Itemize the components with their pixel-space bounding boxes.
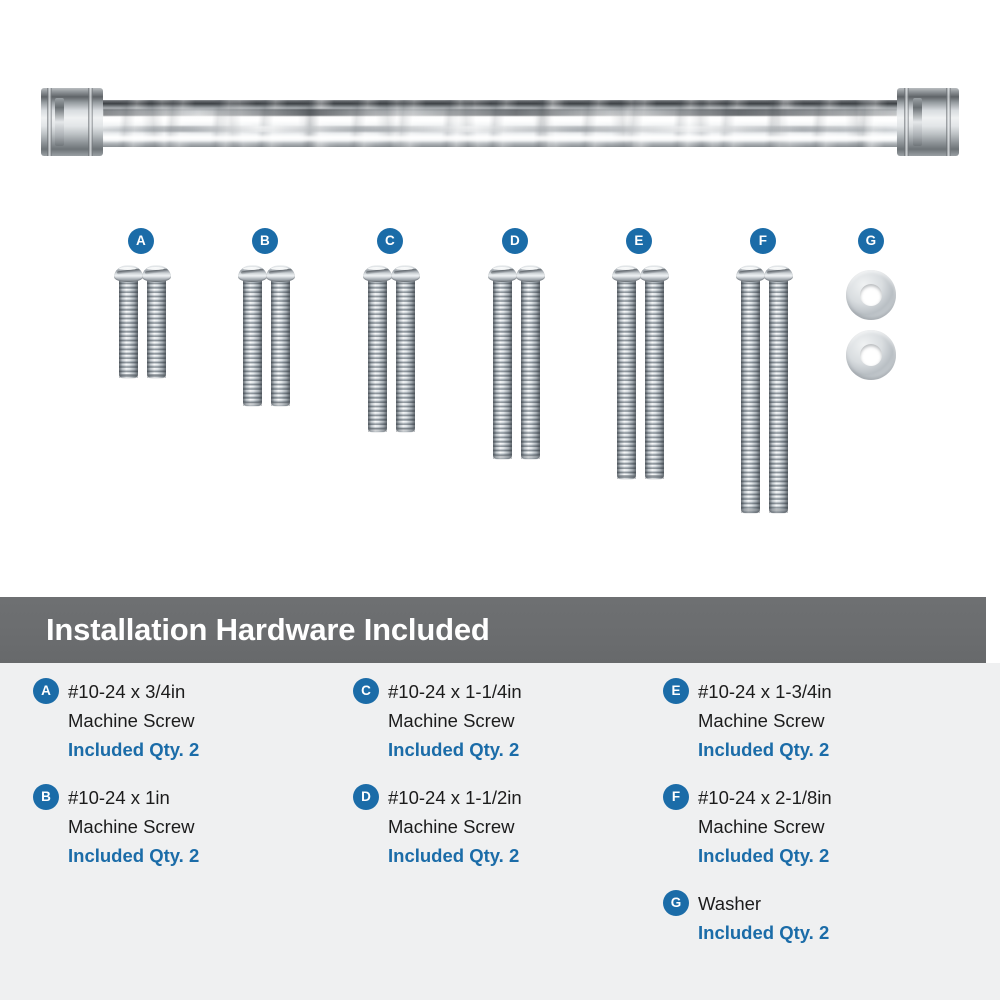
screw-head-gloss bbox=[493, 267, 510, 270]
screw-shank-edge-l bbox=[396, 280, 399, 432]
screw-shank-edge-l bbox=[243, 280, 246, 406]
legend-item-text: #10-24 x 3/4inMachine ScrewIncluded Qty.… bbox=[68, 677, 199, 764]
product-diagram-area: ABCDEFG bbox=[0, 0, 1000, 590]
diagram-marker-e: E bbox=[626, 228, 652, 254]
screw-shank-tip bbox=[741, 509, 760, 514]
legend-item-text: #10-24 x 1inMachine ScrewIncluded Qty. 2 bbox=[68, 783, 199, 870]
screw-shank-tip bbox=[493, 455, 512, 460]
screw-head-gloss bbox=[271, 267, 288, 270]
legend-item-spec: #10-24 x 1-1/4in bbox=[388, 677, 522, 706]
screw-head bbox=[238, 265, 267, 282]
screw-threaded-shank bbox=[769, 280, 788, 513]
legend-item-type: Machine Screw bbox=[388, 812, 522, 841]
legend-body: A#10-24 x 3/4inMachine ScrewIncluded Qty… bbox=[0, 663, 1000, 1000]
screw-shank-tip bbox=[243, 402, 262, 407]
legend-item-b: B#10-24 x 1inMachine ScrewIncluded Qty. … bbox=[33, 783, 199, 870]
legend-item-text: #10-24 x 1-1/4inMachine ScrewIncluded Qt… bbox=[388, 677, 522, 764]
screw-shank-edge-r bbox=[661, 280, 664, 479]
end-cap-ring bbox=[904, 88, 909, 156]
screw-shank-edge-r bbox=[163, 280, 166, 378]
screw-shank-edge-r bbox=[287, 280, 290, 406]
screw-threaded-shank bbox=[493, 280, 512, 459]
legend-item-spec: #10-24 x 2-1/8in bbox=[698, 783, 832, 812]
legend-badge-c: C bbox=[353, 678, 379, 704]
screw-shank-edge-r bbox=[757, 280, 760, 513]
screw-head bbox=[764, 265, 793, 282]
screw-shank-edge-r bbox=[633, 280, 636, 479]
screw-threaded-shank bbox=[368, 280, 387, 432]
legend-item-type: Machine Screw bbox=[698, 706, 832, 735]
screw-head-gloss bbox=[147, 267, 164, 270]
legend-badge-d: D bbox=[353, 784, 379, 810]
diagram-marker-g: G bbox=[858, 228, 884, 254]
legend-item-quantity: Included Qty. 2 bbox=[68, 735, 199, 764]
legend-item-text: #10-24 x 2-1/8inMachine ScrewIncluded Qt… bbox=[698, 783, 832, 870]
screw-threaded-shank bbox=[271, 280, 290, 406]
legend-badge-e: E bbox=[663, 678, 689, 704]
legend-item-type: Machine Screw bbox=[68, 812, 199, 841]
screw-head bbox=[640, 265, 669, 282]
legend-item-g: GWasherIncluded Qty. 2 bbox=[663, 889, 829, 947]
screw-head bbox=[612, 265, 641, 282]
towel-bar-end-cap-right bbox=[897, 88, 959, 156]
end-cap-ring bbox=[946, 88, 951, 156]
legend-item-spec: #10-24 x 3/4in bbox=[68, 677, 199, 706]
screw-shank-tip bbox=[617, 475, 636, 480]
screw-shank-edge-r bbox=[259, 280, 262, 406]
diagram-marker-d: D bbox=[502, 228, 528, 254]
legend-item-quantity: Included Qty. 2 bbox=[698, 735, 832, 764]
legend-badge-g: G bbox=[663, 890, 689, 916]
diagram-marker-f: F bbox=[750, 228, 776, 254]
towel-bar-tube bbox=[103, 100, 897, 147]
screw-shank-tip bbox=[645, 475, 664, 480]
diagram-marker-c: C bbox=[377, 228, 403, 254]
legend-item-text: #10-24 x 1-3/4inMachine ScrewIncluded Qt… bbox=[698, 677, 832, 764]
screw-shank-tip bbox=[147, 374, 166, 379]
screw-shank-edge-l bbox=[769, 280, 772, 513]
legend-item-d: D#10-24 x 1-1/2inMachine ScrewIncluded Q… bbox=[353, 783, 522, 870]
legend-item-quantity: Included Qty. 2 bbox=[698, 918, 829, 947]
legend-item-type: Machine Screw bbox=[388, 706, 522, 735]
diagram-marker-b: B bbox=[252, 228, 278, 254]
screw-shank-edge-l bbox=[521, 280, 524, 459]
towel-bar-highlight-streak bbox=[103, 136, 897, 141]
legend-item-c: C#10-24 x 1-1/4inMachine ScrewIncluded Q… bbox=[353, 677, 522, 764]
legend-item-e: E#10-24 x 1-3/4inMachine ScrewIncluded Q… bbox=[663, 677, 832, 764]
legend-item-type: Machine Screw bbox=[698, 812, 832, 841]
screw-shank-edge-r bbox=[509, 280, 512, 459]
screw-shank-edge-l bbox=[493, 280, 496, 459]
legend-item-text: WasherIncluded Qty. 2 bbox=[698, 889, 829, 947]
screw-shank-tip bbox=[396, 428, 415, 433]
screw-shank-tip bbox=[368, 428, 387, 433]
screw-head-gloss bbox=[243, 267, 260, 270]
towel-bar-end-cap-left bbox=[41, 88, 103, 156]
washer-hole bbox=[860, 344, 882, 366]
screw-head bbox=[516, 265, 545, 282]
legend-item-spec: #10-24 x 1-1/2in bbox=[388, 783, 522, 812]
screw-head-gloss bbox=[741, 267, 758, 270]
screw-shank-edge-r bbox=[785, 280, 788, 513]
screw-shank-edge-l bbox=[617, 280, 620, 479]
screw-threaded-shank bbox=[243, 280, 262, 406]
screw-shank-edge-l bbox=[147, 280, 150, 378]
screw-head-gloss bbox=[521, 267, 538, 270]
screw-threaded-shank bbox=[617, 280, 636, 479]
screw-head-gloss bbox=[368, 267, 385, 270]
legend-badge-f: F bbox=[663, 784, 689, 810]
towel-bar-dark-streak bbox=[103, 109, 897, 116]
screw-threaded-shank bbox=[741, 280, 760, 513]
end-cap-ring bbox=[47, 88, 52, 156]
legend-badge-b: B bbox=[33, 784, 59, 810]
legend-item-f: F#10-24 x 2-1/8inMachine ScrewIncluded Q… bbox=[663, 783, 832, 870]
end-cap-collar bbox=[55, 98, 64, 146]
legend-item-spec: #10-24 x 1in bbox=[68, 783, 199, 812]
screw-head-gloss bbox=[769, 267, 786, 270]
screw-shank-edge-r bbox=[135, 280, 138, 378]
end-cap-collar bbox=[913, 98, 922, 146]
screw-shank-edge-l bbox=[368, 280, 371, 432]
legend-item-quantity: Included Qty. 2 bbox=[388, 841, 522, 870]
screw-head-gloss bbox=[396, 267, 413, 270]
legend-item-a: A#10-24 x 3/4inMachine ScrewIncluded Qty… bbox=[33, 677, 199, 764]
legend-item-spec: Washer bbox=[698, 889, 829, 918]
screw-head bbox=[363, 265, 392, 282]
screw-threaded-shank bbox=[147, 280, 166, 378]
screw-shank-edge-r bbox=[412, 280, 415, 432]
screw-threaded-shank bbox=[119, 280, 138, 378]
legend-item-text: #10-24 x 1-1/2inMachine ScrewIncluded Qt… bbox=[388, 783, 522, 870]
legend-item-quantity: Included Qty. 2 bbox=[698, 841, 832, 870]
end-cap-ring bbox=[88, 88, 93, 156]
screw-head bbox=[736, 265, 765, 282]
legend-item-type: Machine Screw bbox=[68, 706, 199, 735]
screw-head-gloss bbox=[617, 267, 634, 270]
screw-shank-edge-r bbox=[384, 280, 387, 432]
screw-threaded-shank bbox=[645, 280, 664, 479]
screw-head bbox=[488, 265, 517, 282]
legend-header-bar: Installation Hardware Included bbox=[0, 597, 986, 663]
screw-shank-edge-l bbox=[645, 280, 648, 479]
screw-shank-tip bbox=[119, 374, 138, 379]
legend-item-quantity: Included Qty. 2 bbox=[68, 841, 199, 870]
screw-threaded-shank bbox=[521, 280, 540, 459]
washer-2 bbox=[846, 330, 896, 380]
screw-head bbox=[266, 265, 295, 282]
towel-bar-mid-streak bbox=[103, 126, 897, 132]
screw-head bbox=[391, 265, 420, 282]
screw-shank-edge-l bbox=[741, 280, 744, 513]
page-title: Installation Hardware Included bbox=[46, 612, 490, 648]
screw-shank-edge-r bbox=[537, 280, 540, 459]
washer-hole bbox=[860, 284, 882, 306]
screw-head bbox=[142, 265, 171, 282]
screw-shank-tip bbox=[769, 509, 788, 514]
screw-shank-edge-l bbox=[271, 280, 274, 406]
screw-head-gloss bbox=[645, 267, 662, 270]
washer-1 bbox=[846, 270, 896, 320]
screw-threaded-shank bbox=[396, 280, 415, 432]
screw-shank-tip bbox=[271, 402, 290, 407]
legend-item-quantity: Included Qty. 2 bbox=[388, 735, 522, 764]
screw-head bbox=[114, 265, 143, 282]
towel-bar-product-image bbox=[35, 88, 965, 156]
legend-badge-a: A bbox=[33, 678, 59, 704]
diagram-marker-a: A bbox=[128, 228, 154, 254]
screw-shank-tip bbox=[521, 455, 540, 460]
legend-item-spec: #10-24 x 1-3/4in bbox=[698, 677, 832, 706]
screw-shank-edge-l bbox=[119, 280, 122, 378]
screw-head-gloss bbox=[119, 267, 136, 270]
